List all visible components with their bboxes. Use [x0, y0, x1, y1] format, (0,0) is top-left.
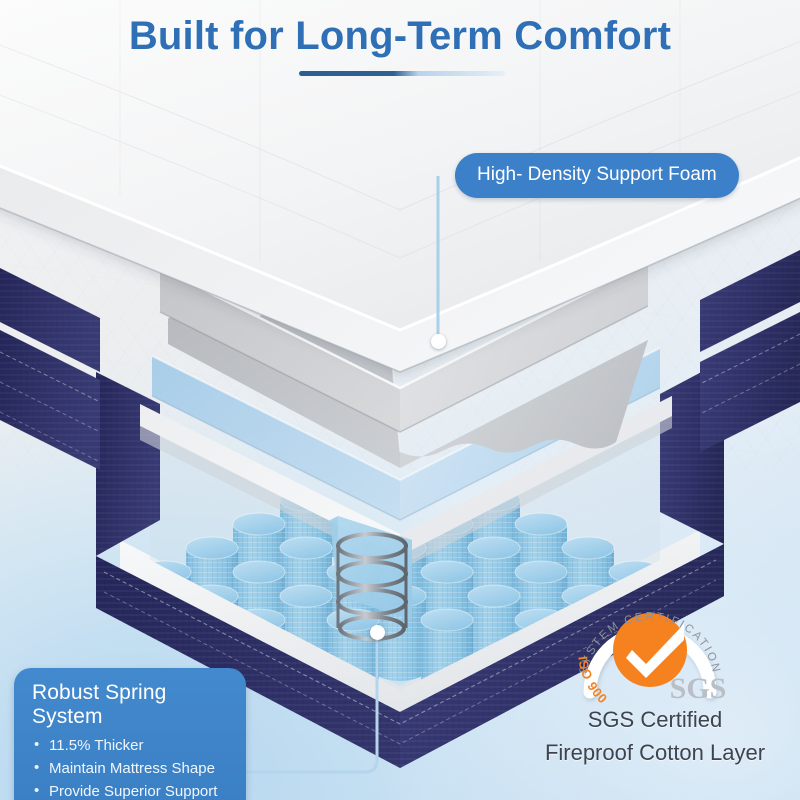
pocket-coil-top	[562, 537, 614, 559]
pocket-coil-top	[186, 537, 238, 559]
leader-dot-foam	[431, 334, 446, 349]
leader-dot-spring	[370, 625, 385, 640]
callout-robust-spring-system[interactable]: Robust Spring System 11.5% Thicker Maint…	[14, 668, 246, 800]
sgs-caption-line1: SGS Certified	[505, 704, 800, 737]
callout-spring-bullets: 11.5% Thicker Maintain Mattress Shape Pr…	[32, 735, 232, 800]
pocket-coil-top	[280, 537, 332, 559]
pocket-coil-top	[233, 561, 285, 583]
page-title: Built for Long-Term Comfort	[0, 14, 800, 59]
pocket-coil-top	[421, 609, 473, 631]
list-item: 11.5% Thicker	[32, 735, 232, 758]
pocket-coil-top	[280, 585, 332, 607]
product-infographic: Built for Long-Term Comfort High- Densit…	[0, 0, 800, 800]
sgs-wordmark: SGS	[670, 672, 727, 705]
sgs-caption: SGS Certified Fireproof Cotton Layer	[505, 704, 800, 769]
pocket-coil-top	[468, 585, 520, 607]
sgs-certification-badge: SYSTEM CERTIFICATION ISO 9001:2000 SGS	[560, 580, 760, 705]
pocket-coil-top	[233, 513, 285, 535]
pocket-coil-top	[421, 561, 473, 583]
pocket-coil-top	[468, 537, 520, 559]
title-underline	[299, 71, 505, 76]
callout-spring-title: Robust Spring System	[32, 681, 232, 729]
pocket-coil-top	[515, 513, 567, 535]
list-item: Provide Superior Support	[32, 781, 232, 800]
navy-rail-right	[700, 250, 800, 452]
sgs-caption-line2: Fireproof Cotton Layer	[505, 737, 800, 770]
callout-high-density-foam[interactable]: High- Density Support Foam	[455, 153, 739, 198]
list-item: Maintain Mattress Shape	[32, 758, 232, 781]
navy-rail-left	[0, 268, 100, 470]
